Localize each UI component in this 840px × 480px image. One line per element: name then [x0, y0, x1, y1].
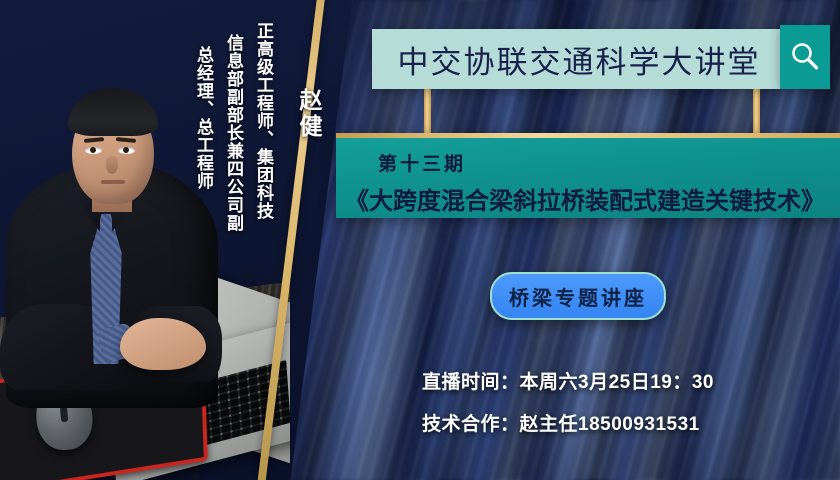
speaker-credential-line-2: 信息部副部长兼四公司副 [221, 34, 246, 232]
nose [106, 156, 118, 174]
program-title-banner: 中交协联交通科学大讲堂 [372, 29, 780, 89]
speaker-name: 赵健 [292, 88, 326, 140]
contact-text: 技术合作：赵主任18500931531 [422, 409, 700, 436]
episode-panel: 第十三期 《大跨度混合梁斜拉桥装配式建造关键技术》 [336, 133, 840, 218]
live-time-text: 直播时间：本周六3月25日19：30 [422, 367, 714, 394]
episode-number: 第十三期 [336, 140, 840, 176]
gold-connector-left [424, 88, 431, 134]
topic-tag-button[interactable]: 桥梁专题讲座 [490, 272, 666, 320]
pupil-left [90, 147, 96, 153]
speaker-credential-line-3: 总经理、总工程师 [191, 46, 216, 190]
mouth [101, 180, 125, 184]
pupil-right [123, 147, 129, 153]
speaker-credential-line-1: 正高级工程师、集团科技 [251, 22, 276, 220]
hair [68, 88, 158, 136]
mouse-scroll-wheel [60, 406, 68, 423]
clasped-hands [120, 318, 206, 370]
speaker-credentials: 赵健 正高级工程师、集团科技 信息部副部长兼四公司副 总经理、总工程师 [186, 10, 326, 290]
webinar-poster: 赵健 正高级工程师、集团科技 信息部副部长兼四公司副 总经理、总工程师 中交协联… [0, 0, 840, 480]
search-icon [788, 40, 822, 74]
search-button[interactable] [780, 25, 830, 89]
topic-tag-label: 桥梁专题讲座 [509, 282, 647, 311]
episode-topic: 《大跨度混合梁斜拉桥装配式建造关键技术》 [336, 176, 840, 216]
gold-connector-right [753, 88, 760, 134]
program-title: 中交协联交通科学大讲堂 [372, 37, 780, 82]
